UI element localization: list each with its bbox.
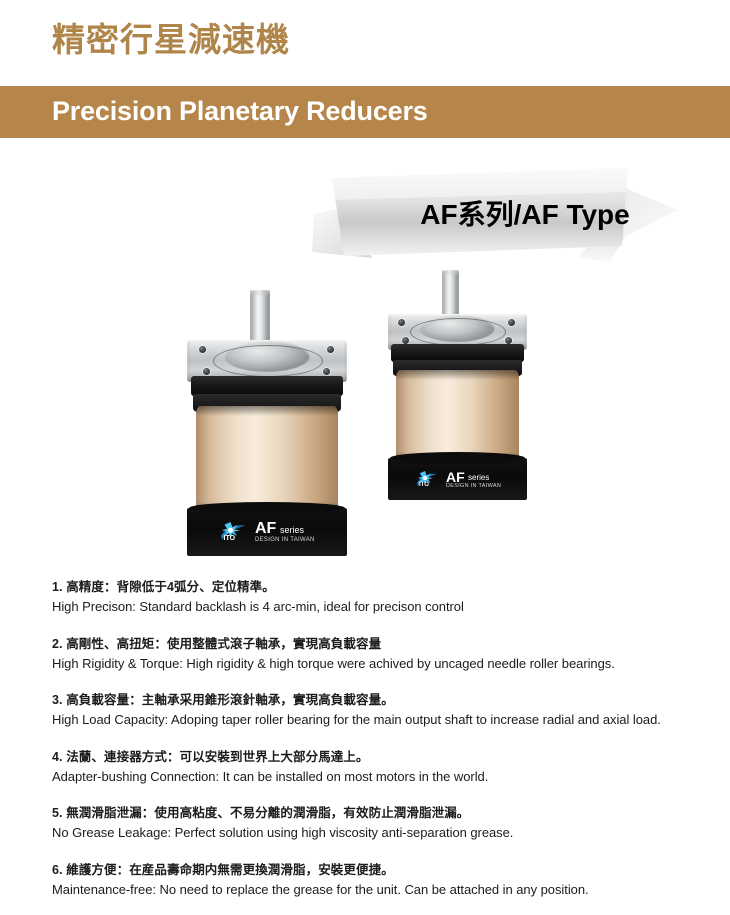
feature-item: 2. 高剛性、高扭矩：使用整體式滾子軸承，實現高負載容量 High Rigidi… bbox=[52, 635, 717, 675]
page-header: 精密行星減速機 Precision Planetary Reducers bbox=[0, 0, 730, 145]
flange-bolt-hole bbox=[199, 346, 206, 353]
product-photo-group: ITO AF series DESIGN IN TAIWAN bbox=[0, 270, 730, 570]
shaft-top-face bbox=[250, 290, 270, 295]
feature-text-english: Maintenance-free: No need to replace the… bbox=[52, 880, 717, 900]
body-top-shading bbox=[396, 370, 519, 380]
product-series-label: series bbox=[280, 526, 304, 535]
product-brand-label: AF bbox=[446, 470, 465, 484]
shaft-top-face bbox=[442, 270, 459, 275]
base-block: ITO AF series DESIGN IN TAIWAN bbox=[187, 508, 347, 556]
gearbox-body bbox=[196, 406, 338, 516]
flange-boss-ring bbox=[213, 345, 323, 377]
feature-item: 6. 維護方便：在産品壽命期内無需更換潤滑脂，安裝更便捷。 Maintenanc… bbox=[52, 861, 717, 901]
feature-text-chinese: 6. 維護方便：在産品壽命期内無需更換潤滑脂，安裝更便捷。 bbox=[52, 861, 717, 880]
feature-text-english: High Load Capacity: Adoping taper roller… bbox=[52, 710, 717, 730]
flange-bolt-hole bbox=[323, 368, 330, 375]
feature-list: 1. 高精度：背隙低于4弧分、定位精準。 High Precison: Stan… bbox=[52, 578, 717, 900]
page-title-english: Precision Planetary Reducers bbox=[52, 98, 428, 125]
flange-bolt-hole bbox=[505, 337, 512, 344]
product-unit-front: ITO AF series DESIGN IN TAIWAN bbox=[183, 290, 358, 575]
base-block: ITO AF series DESIGN IN TAIWAN bbox=[388, 458, 527, 500]
feature-item: 5. 無潤滑脂泄漏：使用高粘度、不易分離的潤滑脂，有效防止潤滑脂泄漏。 No G… bbox=[52, 804, 717, 844]
feature-item: 3. 高負載容量：主軸承采用錐形滾針軸承，實現高負載容量。 High Load … bbox=[52, 691, 717, 731]
feature-text-chinese: 1. 高精度：背隙低于4弧分、定位精準。 bbox=[52, 578, 717, 597]
flange-bolt-hole bbox=[327, 346, 334, 353]
page-title-chinese: 精密行星減速機 bbox=[52, 23, 290, 56]
feature-text-chinese: 5. 無潤滑脂泄漏：使用高粘度、不易分離的潤滑脂，有效防止潤滑脂泄漏。 bbox=[52, 804, 717, 823]
flange-bolt-hole bbox=[398, 319, 405, 326]
feature-text-english: No Grease Leakage: Perfect solution usin… bbox=[52, 823, 717, 843]
series-ribbon-label: AF系列/AF Type bbox=[360, 193, 690, 233]
flange-boss-ring bbox=[410, 318, 506, 346]
feature-text-english: High Precison: Standard backlash is 4 ar… bbox=[52, 597, 717, 617]
svg-text:ITO: ITO bbox=[419, 482, 429, 488]
feature-text-chinese: 4. 法蘭、連接器方式：可以安裝到世界上大部分馬達上。 bbox=[52, 748, 717, 767]
starburst-logo-icon: ITO bbox=[415, 470, 439, 488]
product-origin-label: DESIGN IN TAIWAN bbox=[446, 484, 501, 490]
product-brand-label: AF bbox=[255, 521, 276, 537]
product-series-label: series bbox=[468, 474, 489, 482]
feature-text-english: Adapter-bushing Connection: It can be in… bbox=[52, 767, 717, 787]
feature-item: 4. 法蘭、連接器方式：可以安裝到世界上大部分馬達上。 Adapter-bush… bbox=[52, 748, 717, 788]
flange-bolt-hole bbox=[508, 319, 515, 326]
feature-item: 1. 高精度：背隙低于4弧分、定位精準。 High Precison: Stan… bbox=[52, 578, 717, 618]
svg-text:ITO: ITO bbox=[224, 535, 236, 542]
body-top-shading bbox=[196, 406, 338, 416]
feature-text-english: High Rigidity & Torque: High rigidity & … bbox=[52, 654, 717, 674]
series-ribbon: AF系列/AF Type bbox=[310, 166, 730, 270]
product-unit-back: ITO AF series DESIGN IN TAIWAN bbox=[380, 270, 535, 528]
feature-text-chinese: 3. 高負載容量：主軸承采用錐形滾針軸承，實現高負載容量。 bbox=[52, 691, 717, 710]
product-origin-label: DESIGN IN TAIWAN bbox=[255, 537, 315, 543]
base-top-curve bbox=[390, 452, 525, 464]
feature-text-chinese: 2. 高剛性、高扭矩：使用整體式滾子軸承，實現高負載容量 bbox=[52, 635, 717, 654]
housing-cap bbox=[191, 376, 343, 396]
flange-bolt-hole bbox=[402, 337, 409, 344]
base-top-curve bbox=[189, 502, 345, 514]
flange-bolt-hole bbox=[203, 368, 210, 375]
starburst-logo-icon: ITO bbox=[219, 521, 247, 542]
